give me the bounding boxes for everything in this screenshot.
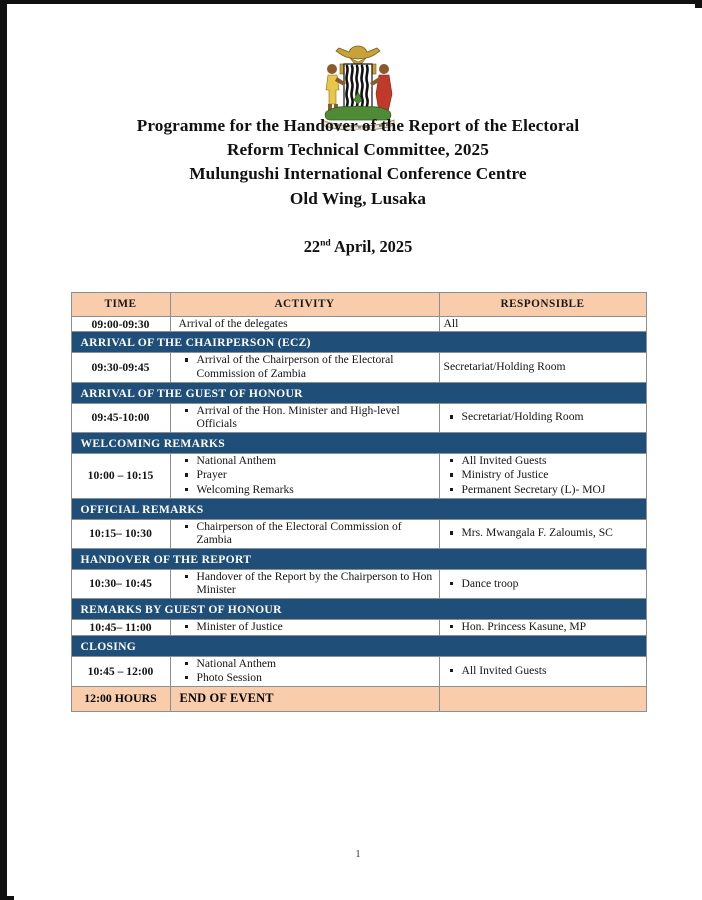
activity-list: Arrival of the delegates bbox=[171, 317, 439, 332]
date-rest: April, 2025 bbox=[331, 237, 413, 256]
list-item: Minister of Justice bbox=[197, 620, 439, 635]
cell-time: 09:30-09:45 bbox=[71, 353, 170, 382]
responsible-list: Secretariat/Holding Room bbox=[440, 360, 646, 375]
table-row: 10:30– 10:45Handover of the Report by th… bbox=[71, 569, 646, 598]
cell-activity: Minister of Justice bbox=[170, 619, 439, 635]
cell-responsible: Secretariat/Holding Room bbox=[439, 353, 646, 382]
list-item: Secretariat/Holding Room bbox=[444, 360, 646, 375]
title-line-3: Mulungushi International Conference Cent… bbox=[14, 162, 702, 186]
column-header-time: TIME bbox=[71, 292, 170, 316]
cell-activity: Arrival of the Chairperson of the Electo… bbox=[170, 353, 439, 382]
table-section-band: REMARKS BY GUEST OF HONOUR bbox=[71, 598, 646, 619]
list-item: Hon. Princess Kasune, MP bbox=[462, 620, 646, 635]
page-sheet: Programme for the Handover of the Report… bbox=[14, 8, 702, 900]
responsible-list: Dance troop bbox=[440, 577, 646, 592]
list-item: Ministry of Justice bbox=[462, 468, 646, 483]
section-band-cell: ARRIVAL OF THE CHAIRPERSON (ECZ) bbox=[71, 332, 646, 353]
document-title-block: Programme for the Handover of the Report… bbox=[14, 114, 702, 257]
cell-time: 10:00 – 10:15 bbox=[71, 453, 170, 498]
cell-activity: Arrival of the delegates bbox=[170, 316, 439, 332]
title-line-4: Old Wing, Lusaka bbox=[14, 187, 702, 211]
cell-time: 10:15– 10:30 bbox=[71, 519, 170, 548]
title-line-2: Reform Technical Committee, 2025 bbox=[14, 138, 702, 162]
list-item: Permanent Secretary (L)- MOJ bbox=[462, 483, 646, 498]
cell-activity: National AnthemPrayerWelcoming Remarks bbox=[170, 453, 439, 498]
list-item: Prayer bbox=[197, 468, 439, 483]
responsible-list: Hon. Princess Kasune, MP bbox=[440, 620, 646, 635]
table-row: 10:15– 10:30Chairperson of the Electoral… bbox=[71, 519, 646, 548]
date-ordinal: nd bbox=[320, 237, 331, 248]
table-section-band: HANDOVER OF THE REPORT bbox=[71, 548, 646, 569]
title-line-1: Programme for the Handover of the Report… bbox=[14, 114, 702, 138]
section-band-label: OFFICIAL REMARKS bbox=[72, 503, 204, 516]
section-band-cell: HANDOVER OF THE REPORT bbox=[71, 548, 646, 569]
table-section-band: ARRIVAL OF THE CHAIRPERSON (ECZ) bbox=[71, 332, 646, 353]
section-band-label: REMARKS BY GUEST OF HONOUR bbox=[72, 603, 282, 616]
list-item: Photo Session bbox=[197, 671, 439, 686]
cell-responsible: Secretariat/Holding Room bbox=[439, 403, 646, 432]
column-header-responsible: RESPONSIBLE bbox=[439, 292, 646, 316]
list-item: Arrival of the Chairperson of the Electo… bbox=[197, 353, 439, 381]
cell-activity: Chairperson of the Electoral Commission … bbox=[170, 519, 439, 548]
list-item: Dance troop bbox=[462, 577, 646, 592]
list-item: Welcoming Remarks bbox=[197, 483, 439, 498]
cell-responsible bbox=[439, 686, 646, 711]
cell-activity: END OF EVENT bbox=[170, 686, 439, 711]
responsible-list: Secretariat/Holding Room bbox=[440, 410, 646, 425]
emblem-container bbox=[14, 8, 702, 104]
section-band-cell: REMARKS BY GUEST OF HONOUR bbox=[71, 598, 646, 619]
section-band-label: ARRIVAL OF THE CHAIRPERSON (ECZ) bbox=[72, 336, 311, 349]
section-band-label: HANDOVER OF THE REPORT bbox=[72, 553, 252, 566]
responsible-list: All Invited GuestsMinistry of JusticePer… bbox=[440, 454, 646, 498]
cell-responsible: All bbox=[439, 316, 646, 332]
cell-responsible: All Invited Guests bbox=[439, 656, 646, 686]
table-header-row: TIME ACTIVITY RESPONSIBLE bbox=[71, 292, 646, 316]
cell-responsible: Mrs. Mwangala F. Zaloumis, SC bbox=[439, 519, 646, 548]
cell-activity: Handover of the Report by the Chairperso… bbox=[170, 569, 439, 598]
table-section-band: CLOSING bbox=[71, 635, 646, 656]
table-row: 09:00-09:30Arrival of the delegatesAll bbox=[71, 316, 646, 332]
table-row: 10:00 – 10:15National AnthemPrayerWelcom… bbox=[71, 453, 646, 498]
list-item: National Anthem bbox=[197, 454, 439, 469]
list-item: All bbox=[444, 317, 646, 332]
cell-time: 10:45– 11:00 bbox=[71, 619, 170, 635]
activity-list: Arrival of the Hon. Minister and High-le… bbox=[171, 404, 439, 432]
cell-responsible: Dance troop bbox=[439, 569, 646, 598]
table-section-band: OFFICIAL REMARKS bbox=[71, 498, 646, 519]
section-band-label: WELCOMING REMARKS bbox=[72, 437, 226, 450]
cell-activity: National AnthemPhoto Session bbox=[170, 656, 439, 686]
table-section-band: WELCOMING REMARKS bbox=[71, 432, 646, 453]
activity-list: Handover of the Report by the Chairperso… bbox=[171, 570, 439, 598]
list-item: Secretariat/Holding Room bbox=[462, 410, 646, 425]
activity-list: Chairperson of the Electoral Commission … bbox=[171, 520, 439, 548]
column-header-activity: ACTIVITY bbox=[170, 292, 439, 316]
cell-time: 12:00 HOURS bbox=[71, 686, 170, 711]
list-item: Arrival of the delegates bbox=[179, 317, 439, 332]
cell-activity: Arrival of the Hon. Minister and High-le… bbox=[170, 403, 439, 432]
programme-table-container: TIME ACTIVITY RESPONSIBLE 09:00-09:30Arr… bbox=[71, 292, 646, 712]
cell-time: 10:30– 10:45 bbox=[71, 569, 170, 598]
list-item: National Anthem bbox=[197, 657, 439, 672]
event-date: 22nd April, 2025 bbox=[14, 237, 702, 257]
section-band-cell: CLOSING bbox=[71, 635, 646, 656]
activity-list: National AnthemPrayerWelcoming Remarks bbox=[171, 454, 439, 498]
list-item: All Invited Guests bbox=[462, 664, 646, 679]
programme-table: TIME ACTIVITY RESPONSIBLE 09:00-09:30Arr… bbox=[71, 292, 647, 712]
activity-list: National AnthemPhoto Session bbox=[171, 657, 439, 686]
document-page: Programme for the Handover of the Report… bbox=[0, 0, 702, 900]
table-row: 10:45 – 12:00National AnthemPhoto Sessio… bbox=[71, 656, 646, 686]
responsible-list: All Invited Guests bbox=[440, 664, 646, 679]
page-number: 1 bbox=[14, 848, 702, 860]
list-item: Mrs. Mwangala F. Zaloumis, SC bbox=[462, 526, 646, 541]
section-band-cell: WELCOMING REMARKS bbox=[71, 432, 646, 453]
cell-time: 09:00-09:30 bbox=[71, 316, 170, 332]
cell-time: 10:45 – 12:00 bbox=[71, 656, 170, 686]
list-item: Chairperson of the Electoral Commission … bbox=[197, 520, 439, 548]
section-band-label: ARRIVAL OF THE GUEST OF HONOUR bbox=[72, 387, 303, 400]
cell-time: 09:45-10:00 bbox=[71, 403, 170, 432]
responsible-list: All bbox=[440, 317, 646, 332]
date-day: 22 bbox=[304, 237, 320, 256]
activity-list: Minister of Justice bbox=[171, 620, 439, 635]
section-band-label: CLOSING bbox=[72, 640, 137, 653]
section-band-cell: OFFICIAL REMARKS bbox=[71, 498, 646, 519]
list-item: Handover of the Report by the Chairperso… bbox=[197, 570, 439, 598]
table-section-band: ARRIVAL OF THE GUEST OF HONOUR bbox=[71, 382, 646, 403]
table-body: 09:00-09:30Arrival of the delegatesAllAR… bbox=[71, 316, 646, 711]
table-row: 09:30-09:45Arrival of the Chairperson of… bbox=[71, 353, 646, 382]
list-item: Arrival of the Hon. Minister and High-le… bbox=[197, 404, 439, 432]
responsible-list: Mrs. Mwangala F. Zaloumis, SC bbox=[440, 526, 646, 541]
activity-list: Arrival of the Chairperson of the Electo… bbox=[171, 353, 439, 381]
table-row: 09:45-10:00Arrival of the Hon. Minister … bbox=[71, 403, 646, 432]
list-item: All Invited Guests bbox=[462, 454, 646, 469]
cell-responsible: Hon. Princess Kasune, MP bbox=[439, 619, 646, 635]
table-row: 10:45– 11:00Minister of JusticeHon. Prin… bbox=[71, 619, 646, 635]
section-band-cell: ARRIVAL OF THE GUEST OF HONOUR bbox=[71, 382, 646, 403]
cell-responsible: All Invited GuestsMinistry of JusticePer… bbox=[439, 453, 646, 498]
table-end-row: 12:00 HOURSEND OF EVENT bbox=[71, 686, 646, 711]
